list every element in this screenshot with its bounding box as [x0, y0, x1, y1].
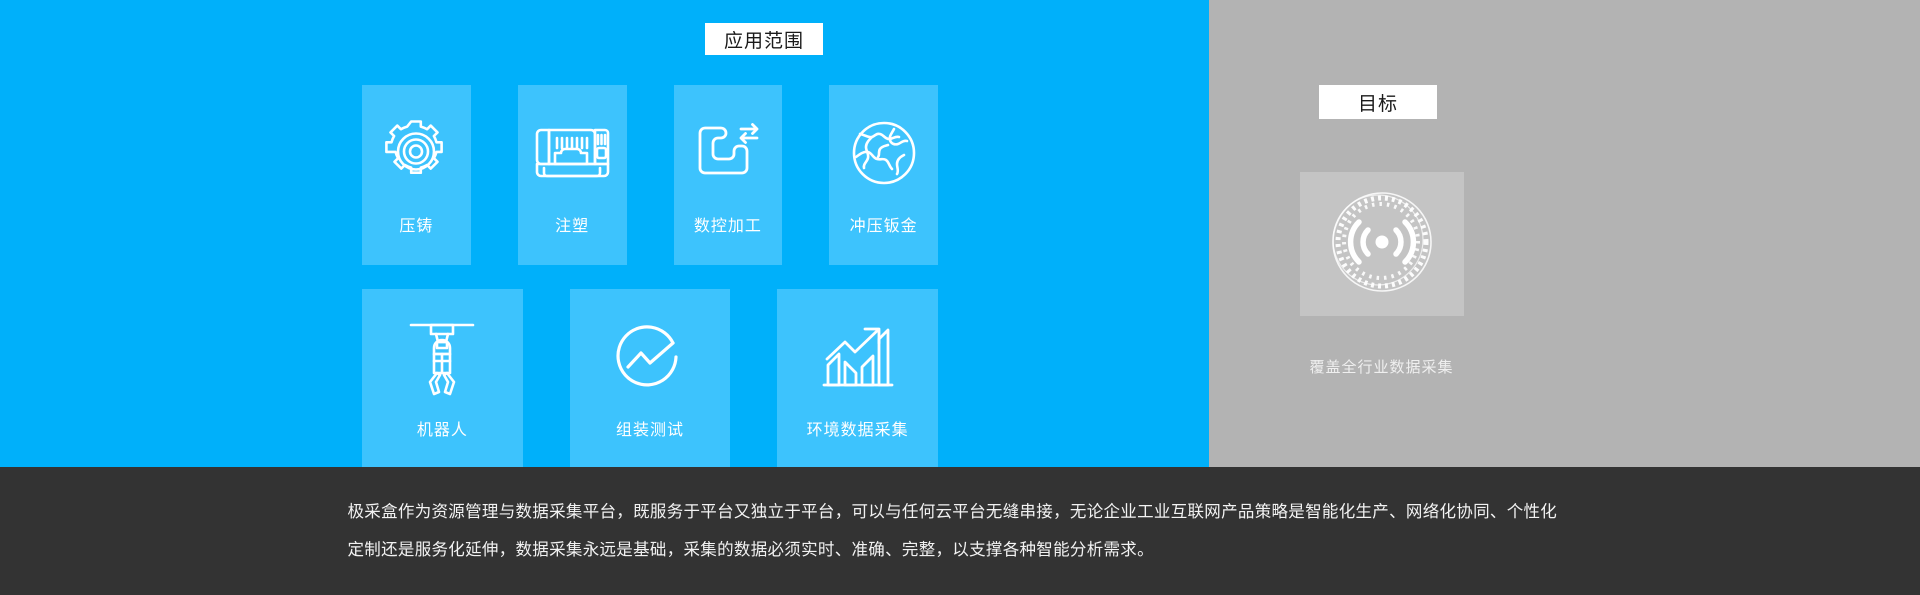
application-scope-panel: 应用范围 压铸 [0, 0, 1209, 467]
footer-bar: 极采盒作为资源管理与数据采集平台，既服务于平台又独立于平台，可以与任何云平台无缝… [0, 467, 1920, 595]
injection-molding-machine-icon [532, 113, 612, 193]
robot-gripper-icon [402, 317, 482, 397]
gear-icon [376, 113, 456, 193]
scope-card-die-casting[interactable]: 压铸 [362, 85, 471, 265]
scope-card-label: 冲压钣金 [850, 219, 918, 235]
card-row: 机器人 组装测试 [362, 289, 938, 469]
card-row: 压铸 [362, 85, 938, 265]
circle-chart-icon [610, 317, 690, 397]
scope-card-label: 数控加工 [694, 219, 762, 235]
scope-card-label: 注塑 [555, 219, 589, 235]
scope-card-label: 压铸 [399, 219, 433, 235]
footer-description: 极采盒作为资源管理与数据采集平台，既服务于平台又独立于平台，可以与任何云平台无缝… [348, 493, 1573, 569]
globe-icon [844, 113, 924, 193]
radar-signal-icon [1326, 186, 1438, 303]
scope-card-injection-molding[interactable]: 注塑 [518, 85, 627, 265]
application-scope-title: 应用范围 [705, 23, 823, 55]
scope-card-label: 组装测试 [616, 423, 684, 439]
goal-caption: 覆盖全行业数据采集 [1209, 356, 1554, 377]
goal-tile[interactable] [1300, 172, 1464, 316]
scope-card-environmental-data-collection[interactable]: 环境数据采集 [777, 289, 938, 469]
scope-card-label: 环境数据采集 [807, 423, 909, 439]
bar-chart-arrow-icon [818, 317, 898, 397]
scope-card-cnc-machining[interactable]: 数控加工 [674, 85, 783, 265]
scope-card-assembly-testing[interactable]: 组装测试 [570, 289, 731, 469]
page-root: 应用范围 压铸 [0, 0, 1920, 595]
scope-card-robot[interactable]: 机器人 [362, 289, 523, 469]
scope-card-stamping-sheet-metal[interactable]: 冲压钣金 [829, 85, 938, 265]
scope-card-label: 机器人 [417, 423, 468, 439]
goal-title: 目标 [1319, 85, 1437, 119]
application-scope-card-grid: 压铸 [362, 85, 938, 493]
cnc-machining-icon [688, 113, 768, 193]
